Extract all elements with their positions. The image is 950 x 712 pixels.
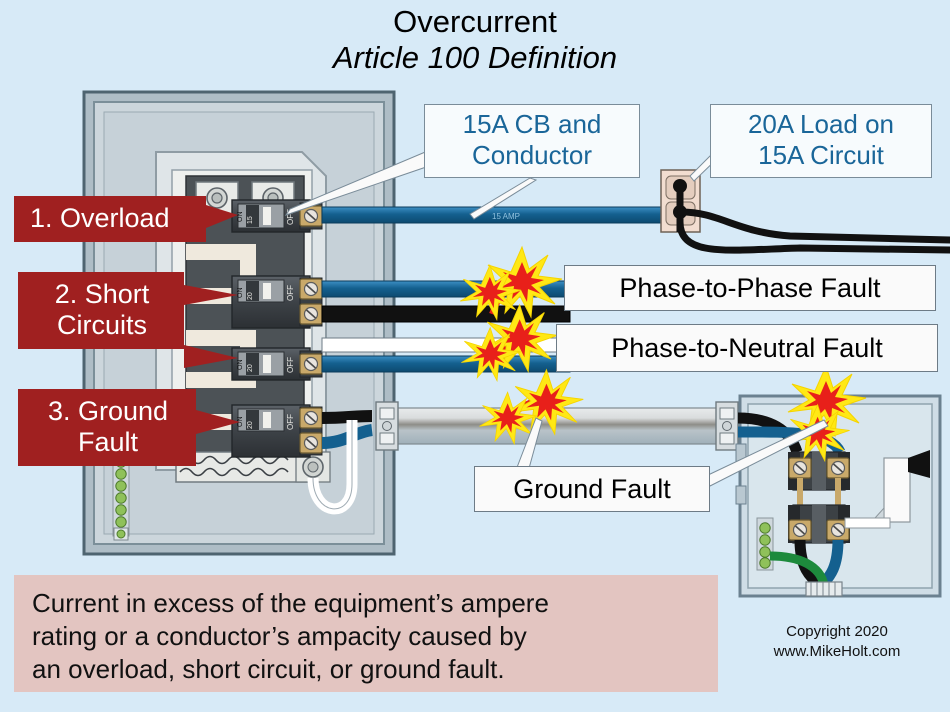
label-phase-to-neutral-text: Phase-to-Neutral Fault — [611, 333, 883, 363]
definition-line-1: Current in excess of the equipment’s amp… — [32, 587, 704, 620]
circuit-1-branch-conductor: 15 AMP — [322, 207, 662, 223]
svg-text:ON: ON — [237, 212, 244, 223]
callout-load-line1: 20A Load on — [711, 109, 931, 140]
svg-text:20: 20 — [247, 292, 254, 300]
junction-box — [736, 366, 940, 596]
svg-text:ON: ON — [237, 360, 244, 371]
page-title: Overcurrent Article 100 Definition — [0, 4, 950, 76]
label-phase-to-phase: Phase-to-Phase Fault — [564, 265, 936, 311]
definition-line-3: an overload, short circuit, or ground fa… — [32, 653, 704, 686]
title-line-1: Overcurrent — [0, 4, 950, 40]
receptacle-outlet — [661, 170, 950, 250]
svg-text:OFF: OFF — [286, 414, 295, 430]
label-phase-to-phase-text: Phase-to-Phase Fault — [619, 273, 880, 303]
breaker-3[interactable]: ON 20 OFF — [232, 348, 322, 380]
label-ground-fault: Ground Fault — [474, 466, 710, 512]
definition-box: Current in excess of the equipment’s amp… — [14, 575, 718, 692]
callout-load: 20A Load on 15A Circuit — [710, 104, 932, 178]
title-line-2: Article 100 Definition — [0, 40, 950, 76]
callout-cb-conductor-line2: Conductor — [425, 140, 639, 171]
label-phase-to-neutral: Phase-to-Neutral Fault — [556, 324, 938, 372]
callout-cb-conductor: 15A CB and Conductor — [424, 104, 640, 178]
callout-load-line2: 15A Circuit — [711, 140, 931, 171]
label-ground-fault-text: Ground Fault — [513, 474, 671, 504]
copyright-block: Copyright 2020 www.MikeHolt.com — [742, 622, 932, 662]
diagram-stage: ON 15 OFF ON 20 OFF ON 20 OFF — [0, 0, 950, 712]
copyright-line-2: www.MikeHolt.com — [742, 642, 932, 662]
banner-short-circuits: 2. Short Circuits — [18, 272, 184, 349]
breaker-4[interactable]: ON 20 OFF — [232, 405, 322, 457]
svg-text:ON: ON — [237, 288, 244, 299]
copyright-line-1: Copyright 2020 — [742, 622, 932, 642]
banner-ground-fault: 3. Ground Fault — [18, 389, 196, 466]
svg-text:20: 20 — [247, 421, 254, 429]
ground-bar-junction — [757, 518, 773, 570]
callout-cb-conductor-line1: 15A CB and — [425, 109, 639, 140]
definition-line-2: rating or a conductor’s ampacity caused … — [32, 620, 704, 653]
svg-text:15: 15 — [247, 216, 254, 224]
svg-text:OFF: OFF — [286, 285, 295, 301]
svg-text:OFF: OFF — [286, 357, 295, 373]
svg-text:20: 20 — [247, 364, 254, 372]
wire-rating-label: 15 AMP — [492, 212, 520, 221]
banner-overload: 1. Overload — [14, 196, 206, 242]
breaker-2[interactable]: ON 20 OFF — [232, 276, 322, 328]
